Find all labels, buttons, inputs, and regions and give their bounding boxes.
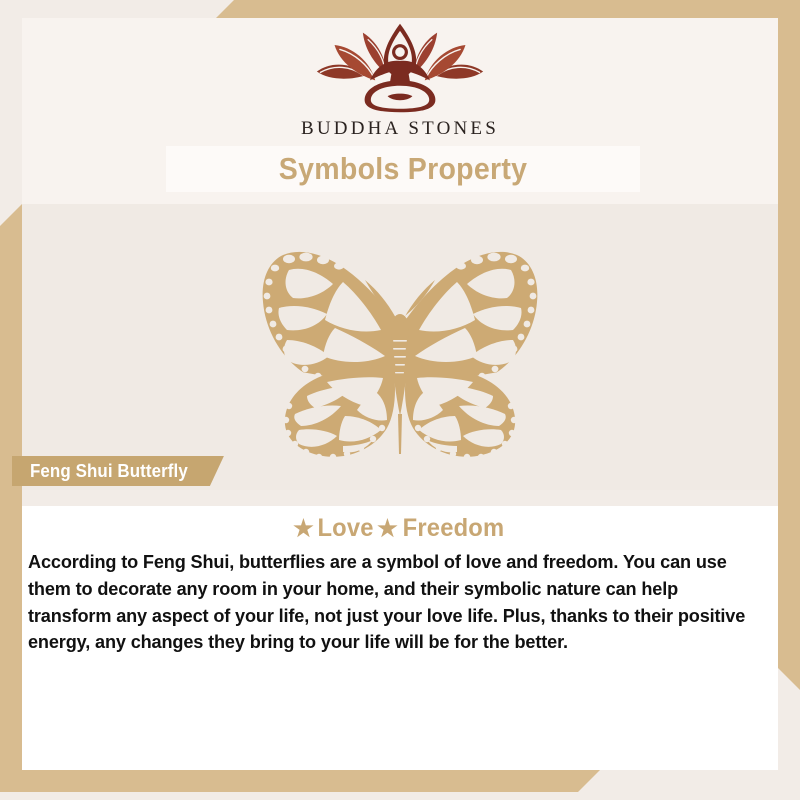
decorative-ribbon-top [216, 0, 800, 18]
heading-word-freedom: Freedom [403, 514, 505, 543]
title-strip: Symbols Property [166, 146, 640, 192]
section-label-banner: Feng Shui Butterfly [12, 456, 224, 486]
hero-section [22, 204, 778, 490]
heading-word-love: Love [317, 514, 373, 543]
brand-name: BUDDHA STONES [301, 118, 499, 140]
decorative-ribbon-left [0, 204, 22, 792]
section-label-text: Feng Shui Butterfly [30, 461, 188, 482]
star-icon-left: ★ [293, 517, 314, 540]
content-paragraph: According to Feng Shui, butterflies are … [28, 549, 753, 656]
lotus-meditation-icon [310, 22, 490, 114]
star-icon-middle: ★ [377, 517, 398, 540]
content-heading: ★ Love ★ Freedom [22, 514, 778, 543]
page-root: BUDDHA STONES Symbols Property [0, 0, 800, 800]
butterfly-icon [215, 230, 585, 470]
decorative-ribbon-bottom [0, 770, 600, 792]
brand-logo: BUDDHA STONES [0, 22, 800, 140]
page-title: Symbols Property [279, 151, 528, 187]
content-card: ★ Love ★ Freedom According to Feng Shui,… [22, 506, 778, 770]
